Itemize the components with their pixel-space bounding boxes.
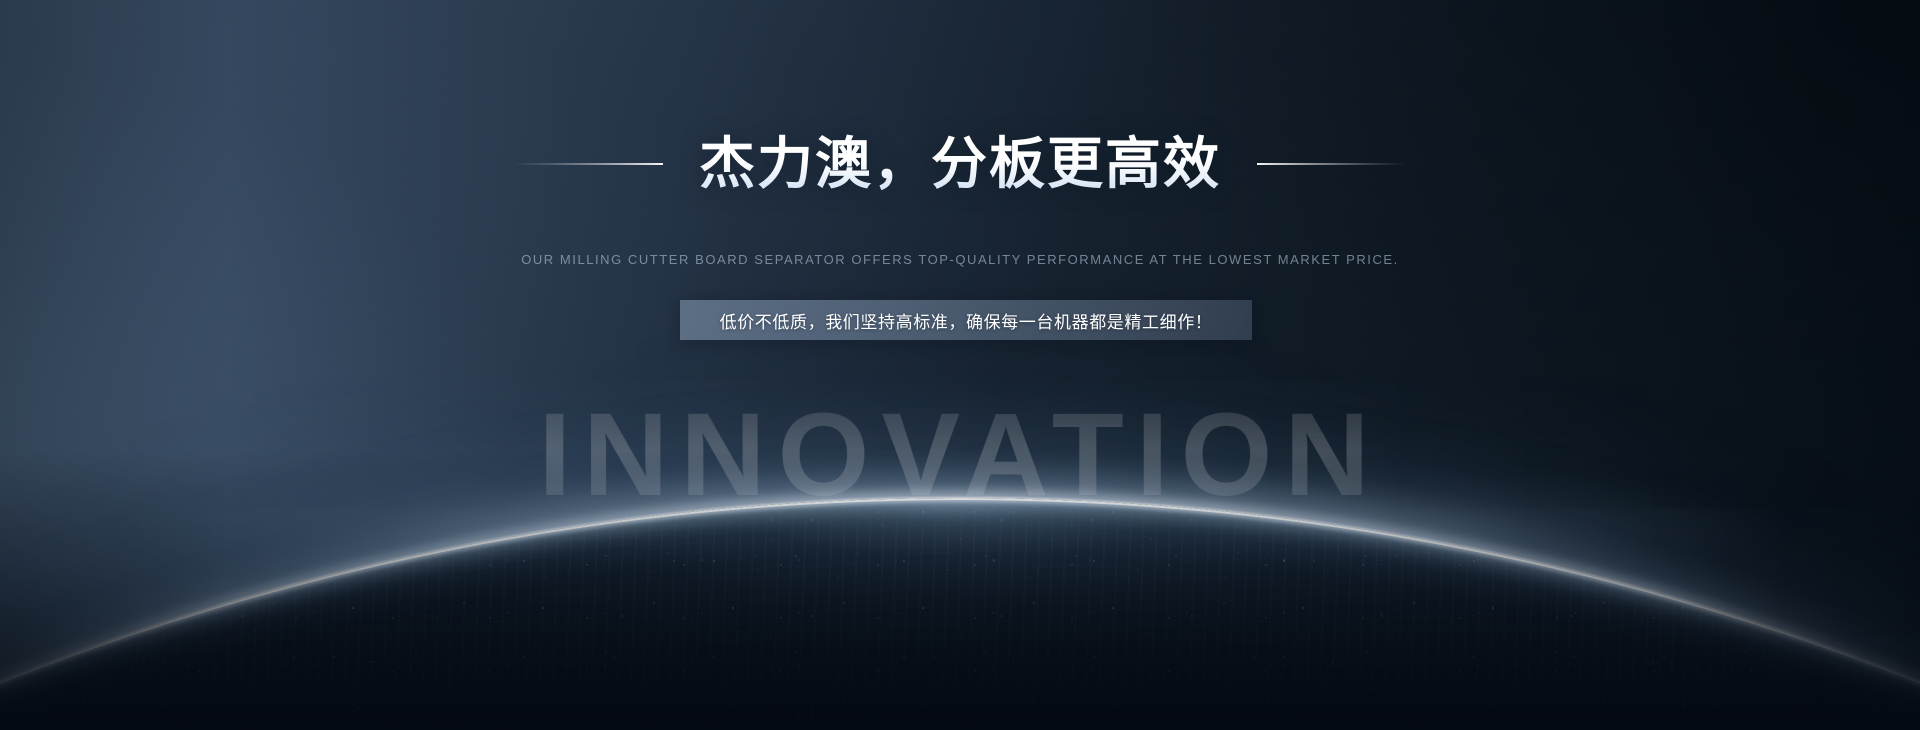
divider-line-left	[513, 163, 663, 165]
slogan-text: 低价不低质，我们坚持高标准，确保每一台机器都是精工细作！	[720, 308, 1213, 333]
subtitle-english: OUR MILLING CUTTER BOARD SEPARATOR OFFER…	[0, 252, 1920, 267]
divider-line-right	[1257, 163, 1407, 165]
slogan-banner: 低价不低质，我们坚持高标准，确保每一台机器都是精工细作！	[680, 300, 1252, 340]
headline-row: 杰力澳，分板更高效	[0, 133, 1920, 196]
hero-banner: INNOVATION 杰力澳，分板更高效 OUR MILLING CUTTER …	[0, 0, 1920, 730]
banner-content: 杰力澳，分板更高效 OUR MILLING CUTTER BOARD SEPAR…	[0, 0, 1920, 730]
page-title: 杰力澳，分板更高效	[699, 133, 1221, 196]
